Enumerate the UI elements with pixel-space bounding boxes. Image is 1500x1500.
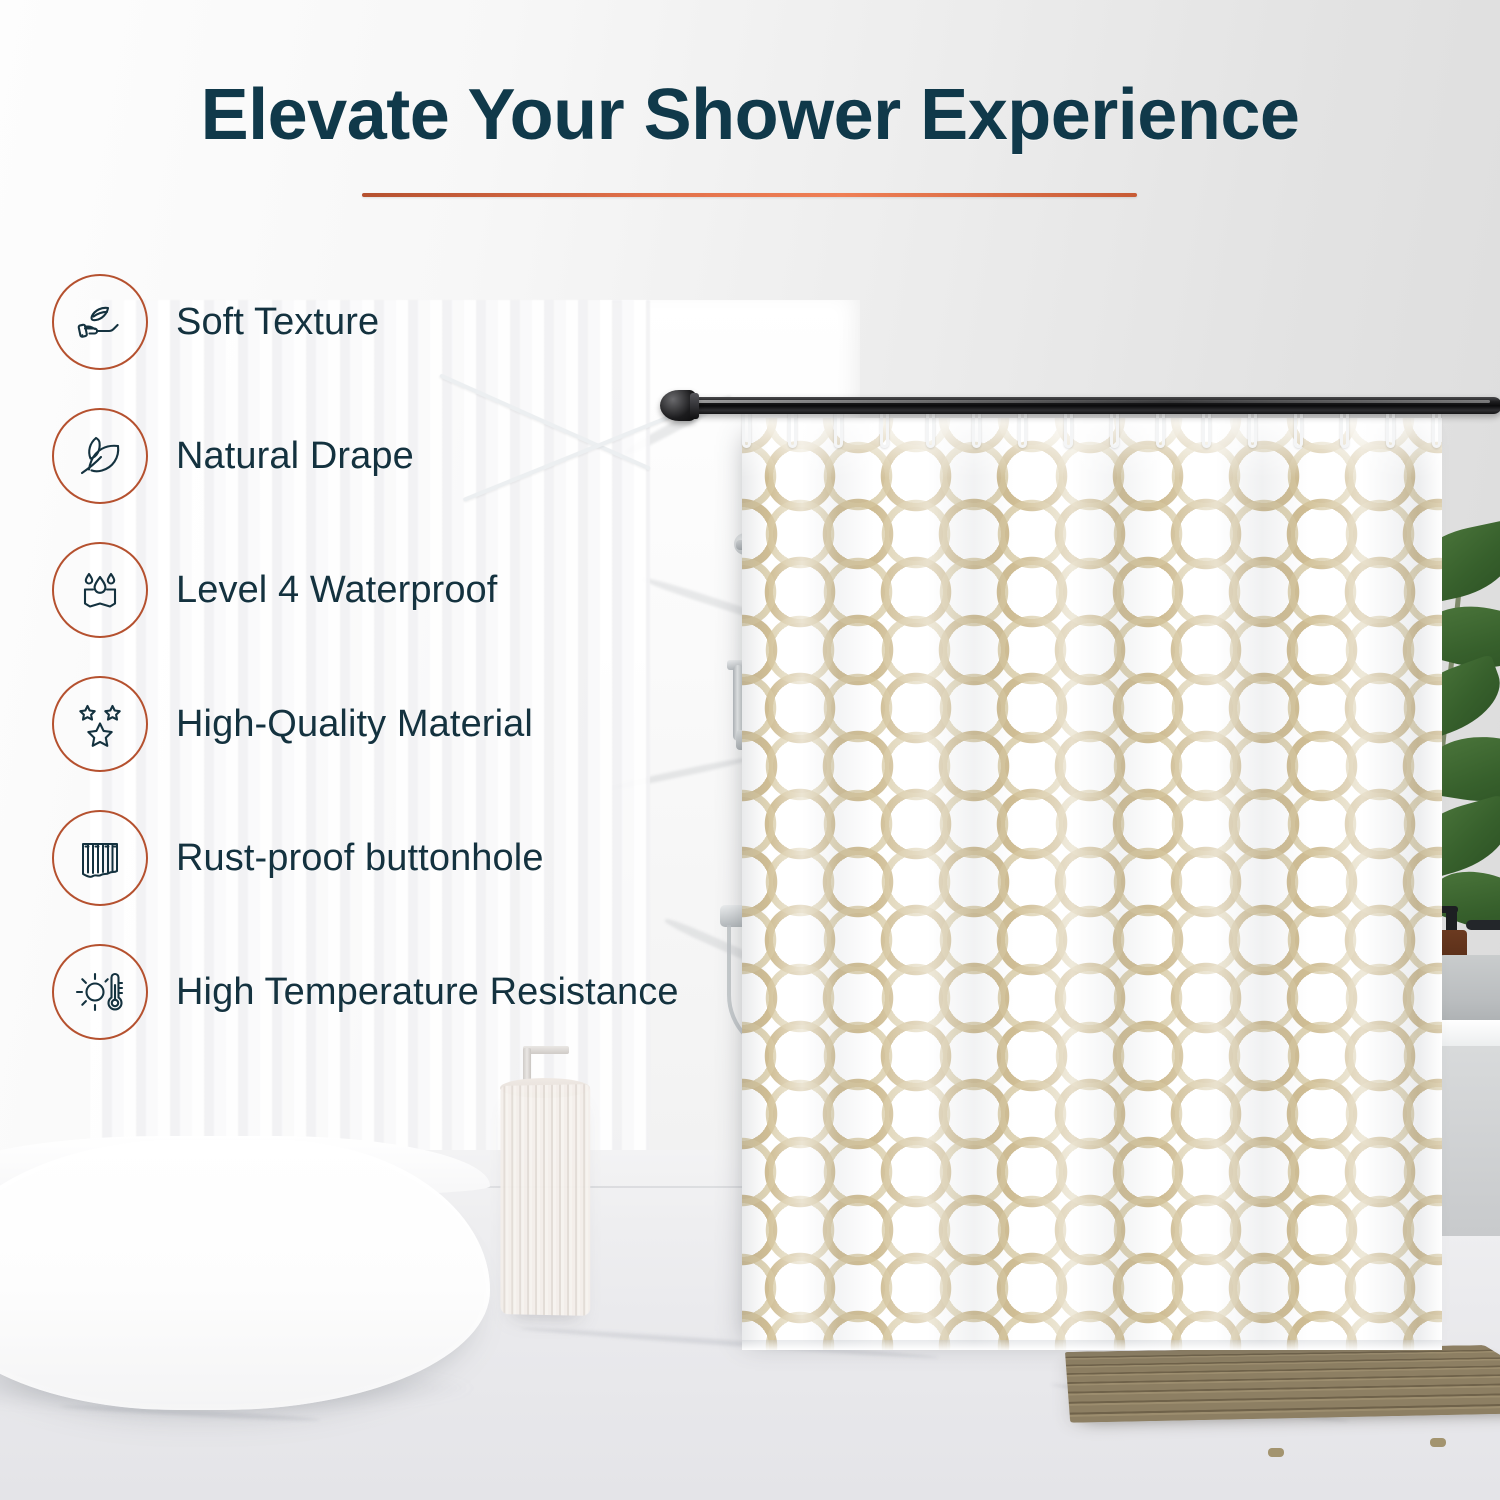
curtain-bottom-hem	[742, 1340, 1442, 1350]
feature-item-high-quality-material: High-Quality Material	[52, 674, 772, 774]
feature-label: Level 4 Waterproof	[176, 569, 497, 612]
feature-icon-badge	[52, 274, 148, 370]
feature-item-rust-proof-buttonhole: Rust-proof buttonhole	[52, 808, 772, 908]
feature-icon-badge	[52, 676, 148, 772]
wooden-slat-bath-mat	[1065, 1345, 1500, 1423]
sink-faucet	[1466, 920, 1500, 930]
shower-curtain	[742, 418, 1442, 1350]
curtain-grommet-icon	[73, 831, 127, 885]
feature-list: Soft Texture Natural Drape	[52, 272, 772, 1076]
slatted-wastebasket	[500, 1084, 590, 1316]
infographic-canvas: Elevate Your Shower Experience	[0, 0, 1500, 1500]
freestanding-bathtub	[0, 1140, 490, 1410]
water-drops-fabric-icon	[73, 563, 127, 617]
feature-icon-badge	[52, 810, 148, 906]
feature-icon-badge	[52, 944, 148, 1040]
feature-label: High Temperature Resistance	[176, 971, 679, 1014]
stars-icon	[73, 697, 127, 751]
feature-icon-badge	[52, 408, 148, 504]
title-underline-rule	[362, 193, 1137, 197]
feature-label: Rust-proof buttonhole	[176, 837, 544, 880]
leaves-icon	[73, 429, 127, 483]
feature-item-natural-drape: Natural Drape	[52, 406, 772, 506]
sun-thermometer-icon	[73, 965, 127, 1019]
bath-mat-foot	[1430, 1438, 1446, 1447]
bath-mat-foot	[1268, 1448, 1284, 1457]
hand-feather-icon	[72, 294, 128, 350]
headline-block: Elevate Your Shower Experience	[0, 78, 1500, 154]
feature-item-high-temperature-resistance: High Temperature Resistance	[52, 942, 772, 1042]
feature-item-level-4-waterproof: Level 4 Waterproof	[52, 540, 772, 640]
curtain-rod-highlight	[690, 400, 1490, 403]
feature-label: High-Quality Material	[176, 703, 533, 746]
page-title: Elevate Your Shower Experience	[0, 78, 1500, 154]
feature-item-soft-texture: Soft Texture	[52, 272, 772, 372]
curtain-folds-shading	[742, 418, 1442, 1350]
feature-icon-badge	[52, 542, 148, 638]
feature-label: Natural Drape	[176, 435, 414, 478]
feature-label: Soft Texture	[176, 301, 379, 344]
